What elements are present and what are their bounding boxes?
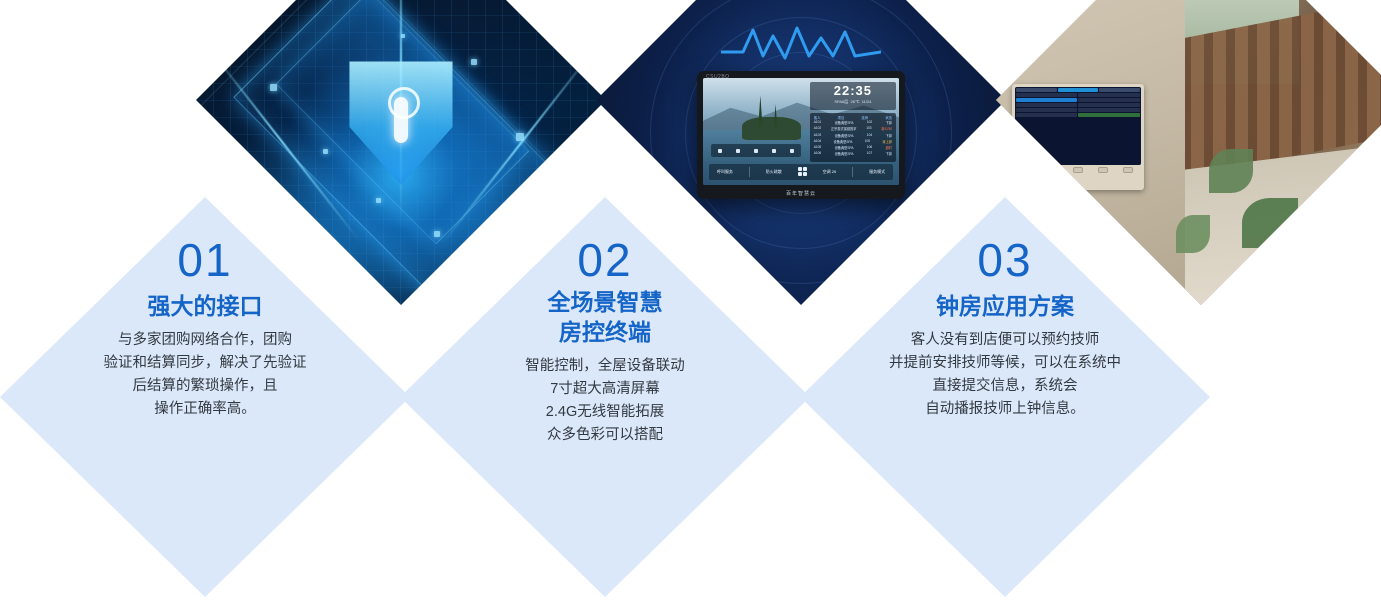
panel-menu-item — [1078, 93, 1139, 97]
media-next-icon — [754, 149, 758, 153]
room-control-tablet: CSU2BO 22:35 SPA6层 26℃ 11/24 — [697, 71, 905, 199]
desc-line: 与多家团购网络合作，团购 — [104, 329, 307, 352]
card-title: 钟房应用方案 — [936, 291, 1074, 321]
cell-item: 设备典型SPA — [835, 151, 854, 156]
card-title-line: 全场景智慧 — [548, 287, 663, 317]
cell-tech: 106 — [867, 145, 872, 150]
date-label: 11/24 — [862, 99, 872, 104]
cell-tech: 104 — [867, 133, 872, 138]
temperature-label: 26℃ — [851, 99, 860, 104]
button-fire-escape: 防火疏散 — [766, 169, 782, 175]
panel-menu-col-right — [1078, 93, 1139, 117]
clock-time: 22:35 — [810, 82, 896, 98]
panel-button-1 — [1023, 167, 1033, 173]
cell-room: A104 — [814, 139, 821, 144]
clock-meta: SPA6层 26℃ 11/24 — [810, 98, 896, 105]
device-footer-logo: 百年智慧云 — [697, 190, 905, 197]
panel-menu-item — [1078, 98, 1139, 102]
plant-2 — [1242, 198, 1298, 248]
panel-tab-selected — [1058, 88, 1098, 92]
card-number: 01 — [177, 235, 232, 285]
cell-status: 待上钟 — [882, 139, 892, 144]
card-title: 全场景智慧 房控终端 — [548, 287, 663, 347]
panel-hard-buttons — [1015, 165, 1140, 173]
media-play-icon — [736, 149, 740, 153]
panel-button-2 — [1048, 167, 1058, 173]
button-service-mode: 服务模式 — [869, 169, 885, 175]
cell-status: 下钟 — [886, 120, 892, 125]
panel-menu-item-selected — [1016, 98, 1077, 102]
wallpaper-island — [742, 117, 801, 141]
cell-status: 下钟 — [886, 151, 892, 156]
panel-menu-item — [1016, 108, 1077, 112]
panel-tab-1 — [1016, 88, 1056, 92]
divider — [749, 167, 750, 177]
cell-status: 新11'50 — [881, 126, 892, 131]
col-guest: 客人 — [814, 115, 821, 120]
panel-menu-item-active — [1078, 113, 1139, 117]
table-row: A106 设备典型SPA 107 下钟 — [812, 150, 894, 156]
card-title: 强大的接口 — [148, 291, 263, 321]
panel-menu-item — [1078, 103, 1139, 107]
card-number: 03 — [977, 235, 1032, 285]
cell-room: A105 — [814, 145, 821, 150]
panel-menu-item — [1016, 103, 1077, 107]
cell-tech: 107 — [867, 151, 872, 156]
media-player-bar — [711, 144, 801, 158]
col-item: 项目 — [838, 115, 845, 120]
panel-screen — [1015, 87, 1140, 165]
feature-card-01[interactable]: 01 强大的接口 与多家团购网络合作，团购 验证和结算同步，解决了先验证 后结算… — [0, 197, 410, 597]
cell-room: A103 — [814, 133, 821, 138]
diamond-feature-row: CSU2BO 22:35 SPA6层 26℃ 11/24 — [0, 0, 1381, 603]
cell-item: 设备典型SPA — [835, 133, 854, 138]
service-table: 客人 项目 技师 状态 A101 设备典型SPA 102 下钟 A102 — [810, 113, 896, 162]
clock-widget: 22:35 SPA6层 26℃ 11/24 — [810, 82, 896, 110]
card-title-line: 房控终端 — [548, 317, 663, 347]
card-description: 客人没有到店便可以预约技师 并提前安排技师等候，可以在系统中 直接提交信息，系统… — [889, 329, 1121, 421]
col-tech: 技师 — [861, 115, 868, 120]
wall-control-panel — [1012, 84, 1143, 191]
divider — [852, 167, 853, 177]
desc-line: 2.4G无线智能拓展 — [525, 401, 685, 424]
desc-line: 客人没有到店便可以预约技师 — [889, 329, 1121, 352]
panel-menu-col-left — [1016, 93, 1077, 117]
desc-line: 众多色彩可以搭配 — [525, 424, 685, 447]
apps-grid-icon — [798, 167, 807, 176]
desc-line: 验证和结算同步，解决了先验证 — [104, 352, 307, 375]
media-prev-icon — [718, 149, 722, 153]
feature-card-02[interactable]: 02 全场景智慧 房控终端 智能控制，全屋设备联动 7寸超大高清屏幕 2.4G无… — [400, 197, 810, 597]
button-air-conditioner: 空调 26 — [823, 169, 837, 175]
cell-tech: 105 — [865, 139, 870, 144]
feature-card-03[interactable]: 03 钟房应用方案 客人没有到店便可以预约技师 并提前安排技师等候，可以在系统中… — [800, 197, 1210, 597]
cell-item: 正宗泰式保健推拿 — [831, 126, 857, 131]
panel-menu-item — [1016, 113, 1077, 117]
desc-line: 后结算的繁琐操作，且 — [104, 375, 307, 398]
desc-line: 操作正确率高。 — [104, 398, 307, 421]
bottom-button-bar: 呼叫服务 防火疏散 空调 26 服务模式 — [709, 164, 893, 180]
media-volume-icon — [772, 149, 776, 153]
cell-room: A106 — [814, 151, 821, 156]
button-call-service: 呼叫服务 — [717, 169, 733, 175]
desc-line: 直接提交信息，系统会 — [889, 375, 1121, 398]
pulse-waveform-icon — [721, 22, 881, 64]
card-description: 与多家团购网络合作，团购 验证和结算同步，解决了先验证 后结算的繁琐操作，且 操… — [104, 329, 307, 421]
card-description: 智能控制，全屋设备联动 7寸超大高清屏幕 2.4G无线智能拓展 众多色彩可以搭配 — [525, 355, 685, 447]
panel-menu — [1015, 93, 1140, 117]
floor-label: SPA6层 — [834, 99, 848, 104]
desc-line: 7寸超大高清屏幕 — [525, 378, 685, 401]
cell-tech: 103 — [866, 126, 871, 131]
cell-tech: 102 — [867, 120, 872, 125]
media-list-icon — [790, 149, 794, 153]
device-screen: 22:35 SPA6层 26℃ 11/24 客人 项目 技师 状态 — [703, 78, 899, 185]
desc-line: 智能控制，全屋设备联动 — [525, 355, 685, 378]
panel-tab-3 — [1099, 88, 1139, 92]
plant-3 — [1176, 215, 1210, 253]
panel-button-5 — [1123, 167, 1133, 173]
cell-room: A101 — [814, 120, 821, 125]
cell-status: 超时 — [886, 145, 892, 150]
cell-item: 设备典型SPA — [835, 145, 854, 150]
cell-item: 设备典型SPA — [834, 139, 853, 144]
col-status: 状态 — [885, 115, 892, 120]
panel-menu-item — [1016, 93, 1077, 97]
desc-line: 自动播报技师上钟信息。 — [889, 398, 1121, 421]
cell-status: 下钟 — [886, 133, 892, 138]
cell-room: A102 — [814, 126, 821, 131]
cell-item: 设备典型SPA — [835, 120, 854, 125]
panel-button-4 — [1098, 167, 1108, 173]
panel-menu-item — [1078, 108, 1139, 112]
desc-line: 并提前安排技师等候，可以在系统中 — [889, 352, 1121, 375]
panel-button-3 — [1073, 167, 1083, 173]
card-number: 02 — [577, 235, 632, 285]
